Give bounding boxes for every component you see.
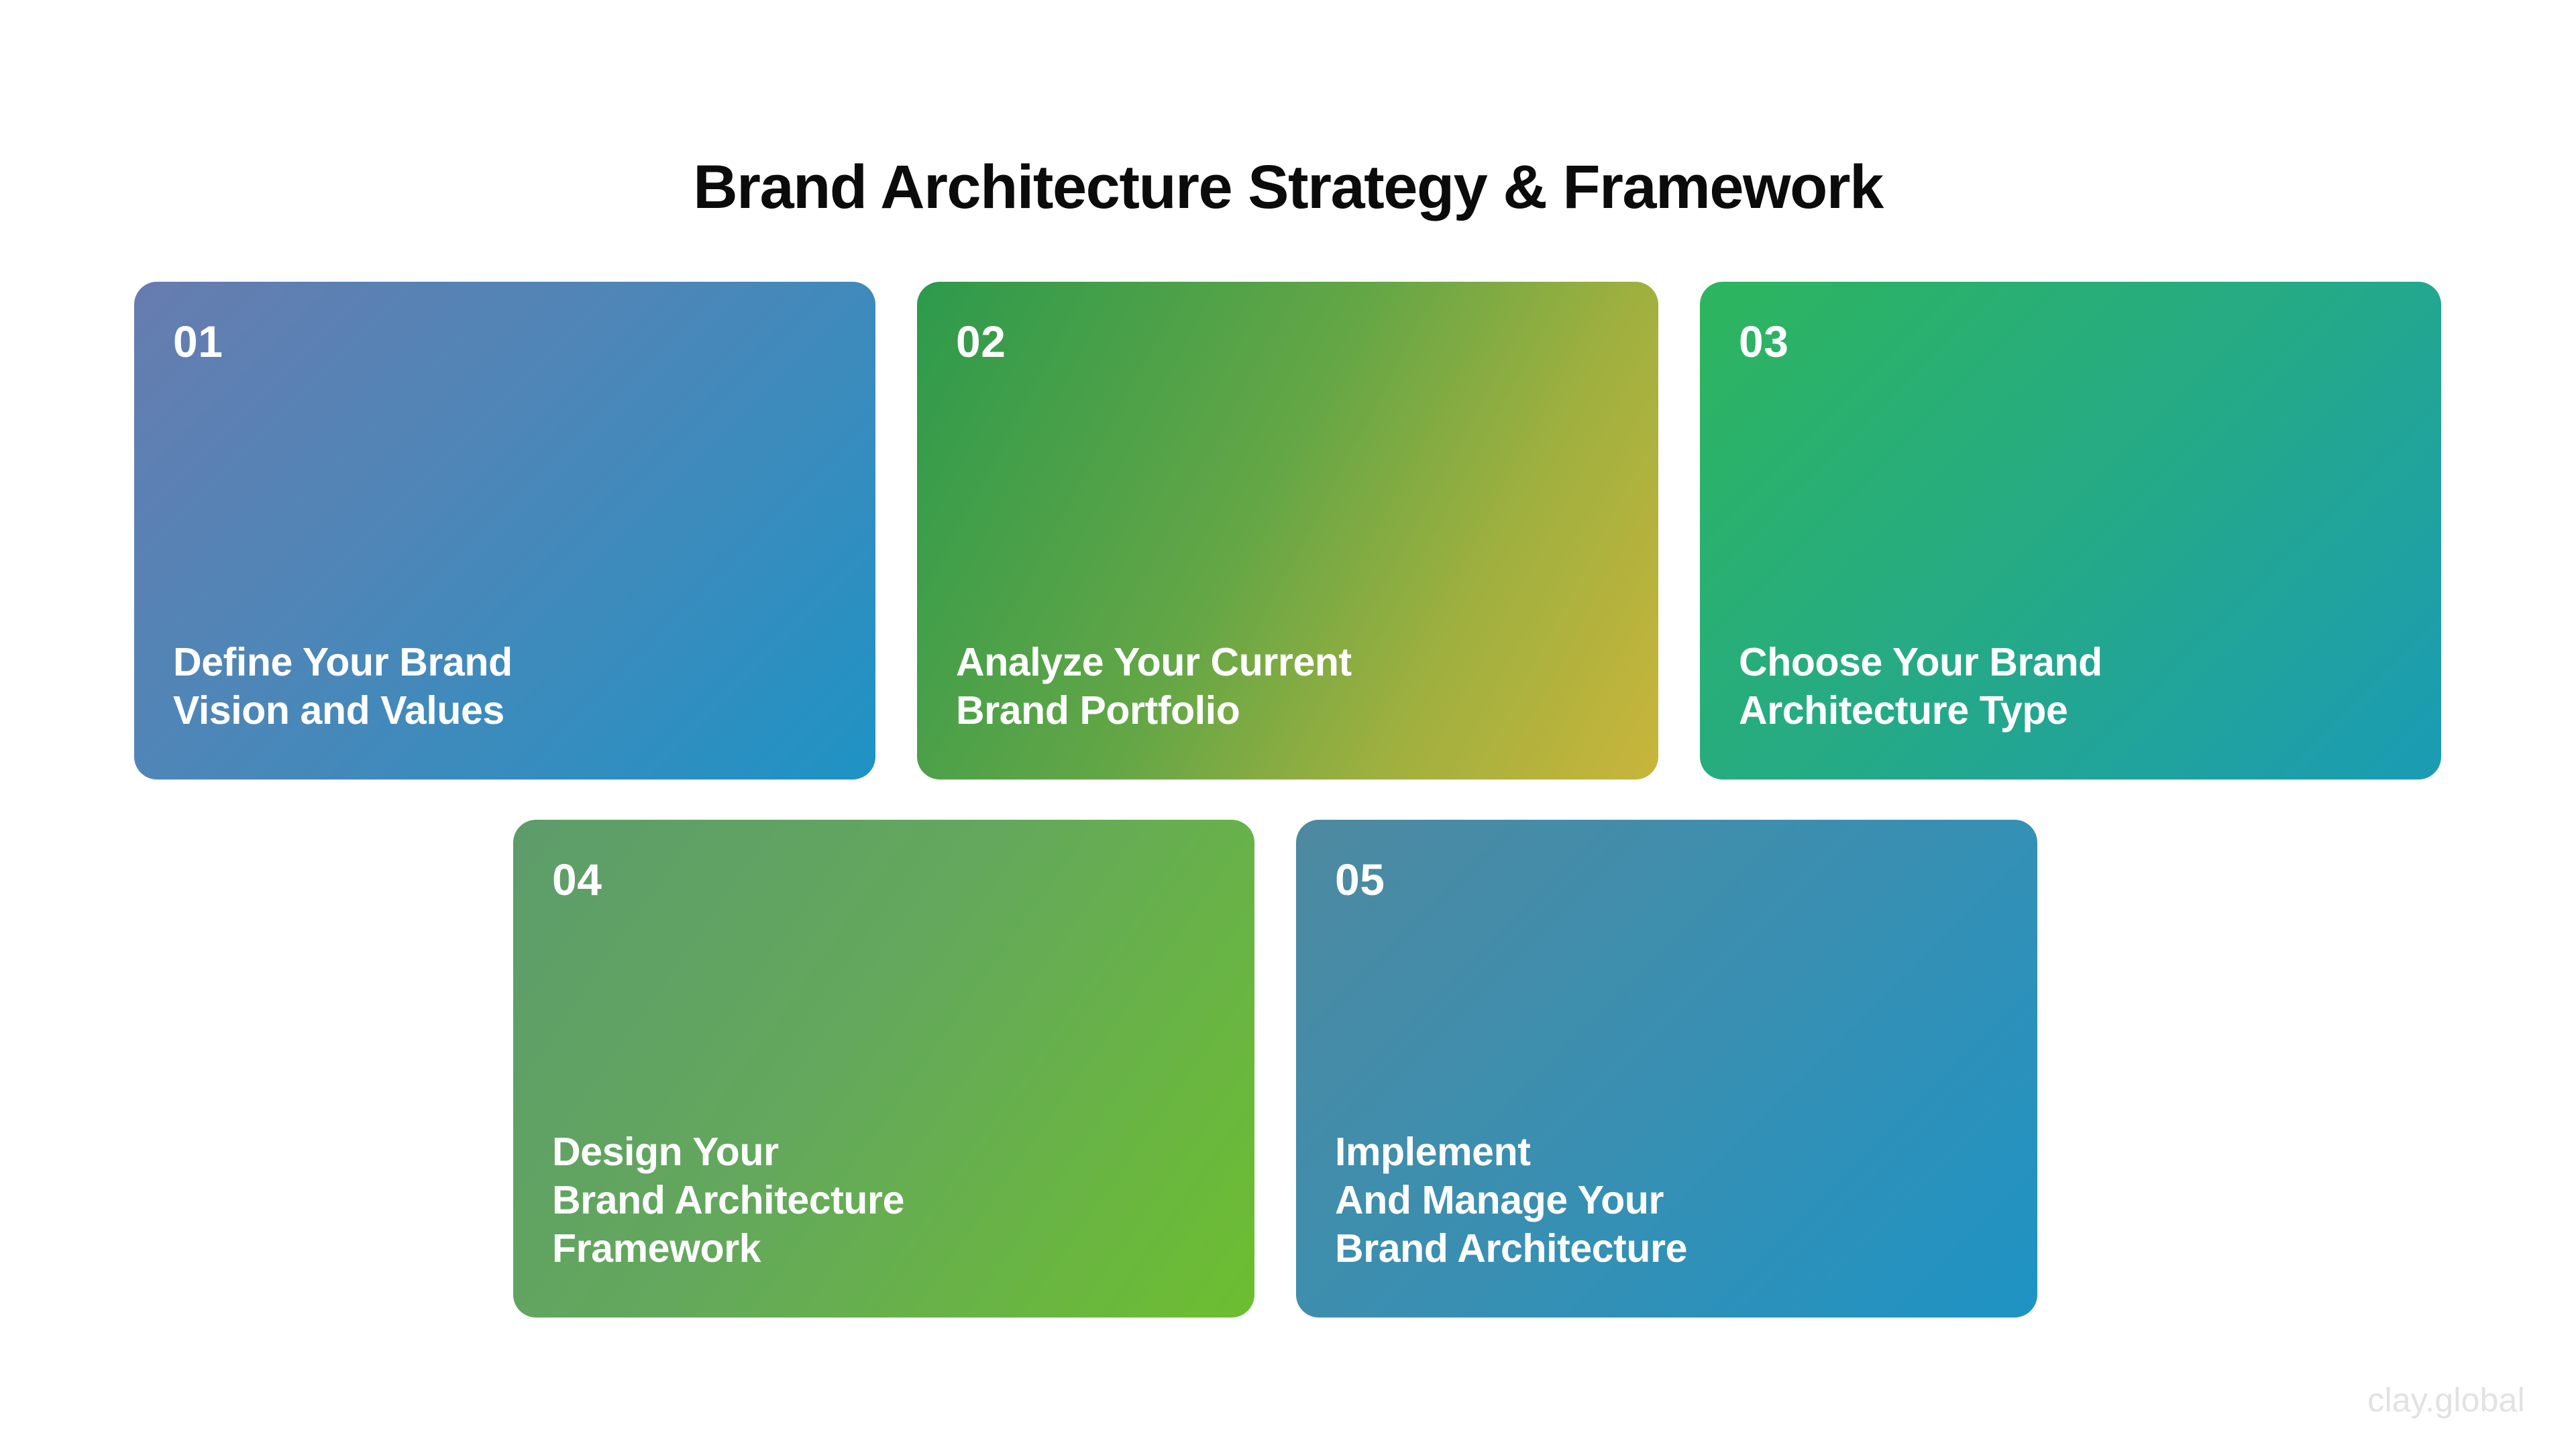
step-title: Analyze Your Current Brand Portfolio — [956, 639, 1619, 735]
step-card-01[interactable]: 01 Define Your Brand Vision and Values — [134, 282, 875, 780]
infographic-slide: Brand Architecture Strategy & Framework … — [0, 0, 2576, 1449]
step-number: 05 — [1335, 857, 1998, 902]
card-row-top: 01 Define Your Brand Vision and Values 0… — [134, 282, 2442, 780]
page-title-container: Brand Architecture Strategy & Framework — [0, 113, 2576, 262]
step-title: Define Your Brand Vision and Values — [173, 639, 837, 735]
step-title: Choose Your Brand Architecture Type — [1739, 639, 2402, 735]
step-card-04[interactable]: 04 Design Your Brand Architecture Framew… — [513, 820, 1254, 1318]
step-number: 04 — [552, 857, 1216, 902]
step-number: 02 — [956, 319, 1619, 364]
watermark: clay.global — [2367, 1383, 2525, 1417]
step-title: Design Your Brand Architecture Framework — [552, 1128, 1216, 1273]
card-row-bottom: 04 Design Your Brand Architecture Framew… — [513, 820, 2049, 1318]
page-title: Brand Architecture Strategy & Framework — [693, 154, 1883, 221]
step-card-05[interactable]: 05 Implement And Manage Your Brand Archi… — [1296, 820, 2037, 1318]
step-number: 03 — [1739, 319, 2402, 364]
step-card-02[interactable]: 02 Analyze Your Current Brand Portfolio — [917, 282, 1658, 780]
step-card-03[interactable]: 03 Choose Your Brand Architecture Type — [1700, 282, 2441, 780]
step-number: 01 — [173, 319, 837, 364]
step-title: Implement And Manage Your Brand Architec… — [1335, 1128, 1998, 1273]
